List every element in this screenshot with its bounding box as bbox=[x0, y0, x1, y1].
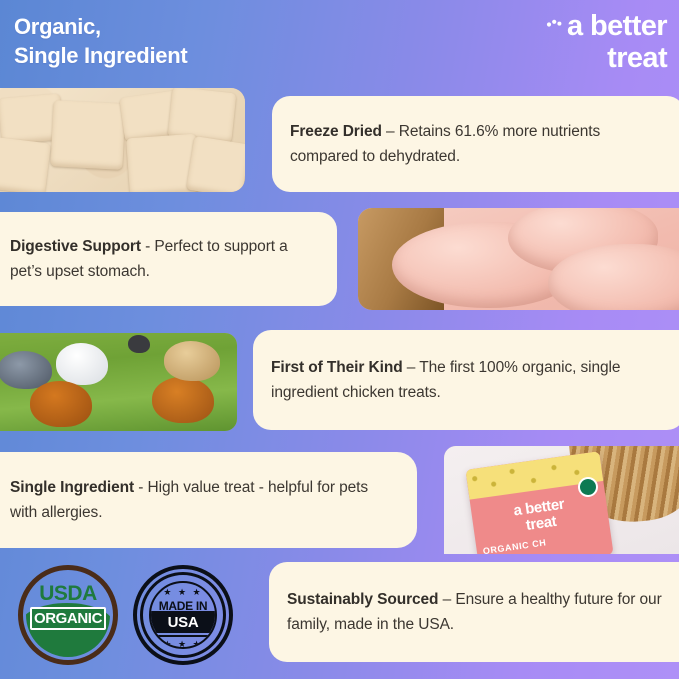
feature-text: Sustainably Sourced – Ensure a healthy f… bbox=[269, 587, 679, 637]
made-in-usa-seal: ★ ★ ★ MADE IN USA ★ ★ ★ bbox=[133, 565, 233, 665]
usda-organic-banner: ORGANIC bbox=[30, 607, 106, 630]
feature-text: Freeze Dried – Retains 61.6% more nutrie… bbox=[272, 119, 679, 169]
treat-chunk bbox=[0, 137, 51, 192]
bag-subtitle: ORGANIC CH bbox=[482, 537, 547, 554]
certification-badges: USDA ORGANIC ★ ★ ★ MADE IN USA ★ ★ ★ bbox=[18, 565, 248, 665]
product-bag: a better treat ORGANIC CH bbox=[465, 451, 613, 554]
hen bbox=[164, 341, 220, 381]
feature-title: Single Ingredient bbox=[10, 479, 134, 496]
usa-band-text: USA bbox=[151, 613, 215, 633]
feature-title: Freeze Dried bbox=[290, 123, 382, 140]
product-package-with-dog-photo: a better treat ORGANIC CH bbox=[444, 446, 679, 554]
hen bbox=[56, 343, 108, 385]
raw-chicken-breast-photo bbox=[358, 208, 679, 310]
feature-text: Single Ingredient - High value treat - h… bbox=[0, 475, 417, 525]
feature-card-single-ingredient: Single Ingredient - High value treat - h… bbox=[0, 452, 417, 548]
feature-card-digestive-support: Digestive Support - Perfect to support a… bbox=[0, 212, 337, 306]
usa-core-disc: ★ ★ ★ MADE IN USA ★ ★ ★ bbox=[149, 581, 217, 649]
feature-title: Digestive Support bbox=[10, 238, 141, 255]
usda-top-text: USDA bbox=[26, 573, 110, 608]
page-title: Organic, Single Ingredient bbox=[14, 12, 187, 71]
paw-print-icon bbox=[545, 12, 565, 30]
headline-line-2: Single Ingredient bbox=[14, 41, 187, 70]
brand-logo-text-1: a better bbox=[567, 10, 667, 42]
usda-organic-seal: USDA ORGANIC bbox=[18, 565, 118, 665]
brand-logo-line-2: treat bbox=[545, 42, 667, 74]
brand-logo-line-1: a better bbox=[545, 10, 667, 42]
usda-inner-disc: USDA ORGANIC bbox=[26, 573, 110, 657]
feature-dash: - bbox=[141, 238, 154, 255]
bag-brand: a better treat bbox=[471, 491, 609, 541]
feature-text: First of Their Kind – The first 100% org… bbox=[253, 355, 679, 405]
headline-line-1: Organic, bbox=[14, 12, 187, 41]
usa-stripe bbox=[151, 635, 215, 637]
hen bbox=[128, 335, 150, 353]
brand-logo: a better treat bbox=[545, 10, 667, 75]
treat-chunk bbox=[186, 136, 245, 192]
feature-dash: – bbox=[382, 123, 399, 140]
hen bbox=[152, 377, 214, 423]
feature-dash: - bbox=[134, 479, 147, 496]
feature-title: Sustainably Sourced bbox=[287, 591, 438, 608]
feature-text: Digestive Support - Perfect to support a… bbox=[0, 234, 337, 284]
treat-chunk bbox=[50, 100, 125, 170]
feature-card-freeze-dried: Freeze Dried – Retains 61.6% more nutrie… bbox=[272, 96, 679, 192]
header: Organic, Single Ingredient a better trea… bbox=[0, 0, 679, 88]
free-range-chickens-photo bbox=[0, 333, 237, 431]
feature-card-sustainably-sourced: Sustainably Sourced – Ensure a healthy f… bbox=[269, 562, 679, 662]
feature-title: First of Their Kind bbox=[271, 359, 403, 376]
feature-dash: – bbox=[403, 359, 420, 376]
feature-card-first-of-their-kind: First of Their Kind – The first 100% org… bbox=[253, 330, 679, 430]
hen bbox=[30, 381, 92, 427]
freeze-dried-chicken-chunks-photo bbox=[0, 88, 245, 192]
usa-stars-top: ★ ★ ★ bbox=[151, 587, 215, 598]
feature-dash: – bbox=[438, 591, 455, 608]
